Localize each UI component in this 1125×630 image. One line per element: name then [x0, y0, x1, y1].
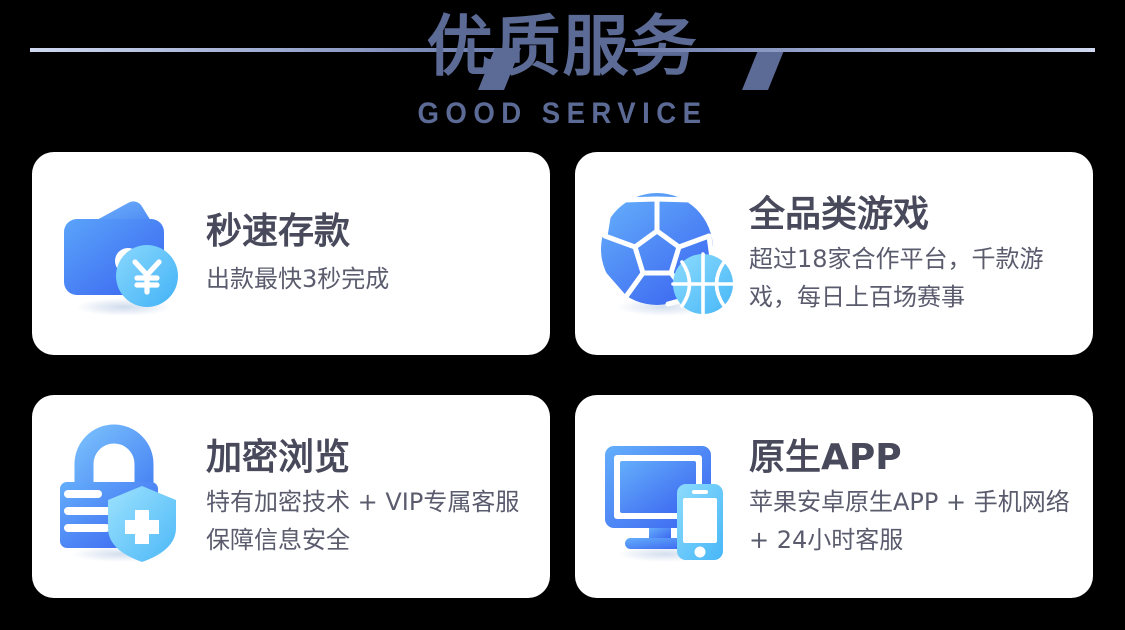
card-text-encryption: 加密浏览 特有加密技术 + VIP专属客服保障信息安全	[206, 435, 550, 559]
card-description: 超过18家合作平台，千款游戏，每日上百场赛事	[749, 240, 1077, 316]
card-text-games: 全品类游戏 超过18家合作平台，千款游戏，每日上百场赛事	[749, 192, 1093, 316]
card-title: 加密浏览	[206, 435, 534, 481]
card-description: 出款最快3秒完成	[206, 260, 534, 298]
card-title: 原生APP	[749, 435, 1077, 481]
feature-card-native-app[interactable]: 原生APP 苹果安卓原生APP + 手机网络 + 24小时客服	[575, 395, 1093, 598]
card-text-native-app: 原生APP 苹果安卓原生APP + 手机网络 + 24小时客服	[749, 435, 1093, 559]
card-text-deposit: 秒速存款 出款最快3秒完成	[206, 209, 550, 298]
feature-card-grid: 秒速存款 出款最快3秒完成	[32, 152, 1093, 598]
promo-banner: 优质服务 GOOD SERVICE	[0, 0, 1125, 630]
banner-header: 优质服务 GOOD SERVICE	[0, 0, 1125, 145]
lock-shield-icon	[50, 422, 200, 572]
card-description: 苹果安卓原生APP + 手机网络 + 24小时客服	[749, 483, 1077, 559]
card-description: 特有加密技术 + VIP专属客服保障信息安全	[206, 483, 534, 559]
feature-card-games[interactable]: 全品类游戏 超过18家合作平台，千款游戏，每日上百场赛事	[575, 152, 1093, 355]
right-decorative-rule	[625, 48, 1095, 52]
page-title: 优质服务	[0, 4, 1125, 90]
monitor-phone-icon	[593, 422, 743, 572]
feature-card-encryption[interactable]: 加密浏览 特有加密技术 + VIP专属客服保障信息安全	[32, 395, 550, 598]
page-subtitle: GOOD SERVICE	[45, 96, 1080, 132]
wallet-icon	[50, 179, 200, 329]
card-title: 秒速存款	[206, 209, 534, 255]
feature-card-deposit[interactable]: 秒速存款 出款最快3秒完成	[32, 152, 550, 355]
soccer-ball-icon	[593, 179, 743, 329]
card-title: 全品类游戏	[749, 192, 1077, 238]
